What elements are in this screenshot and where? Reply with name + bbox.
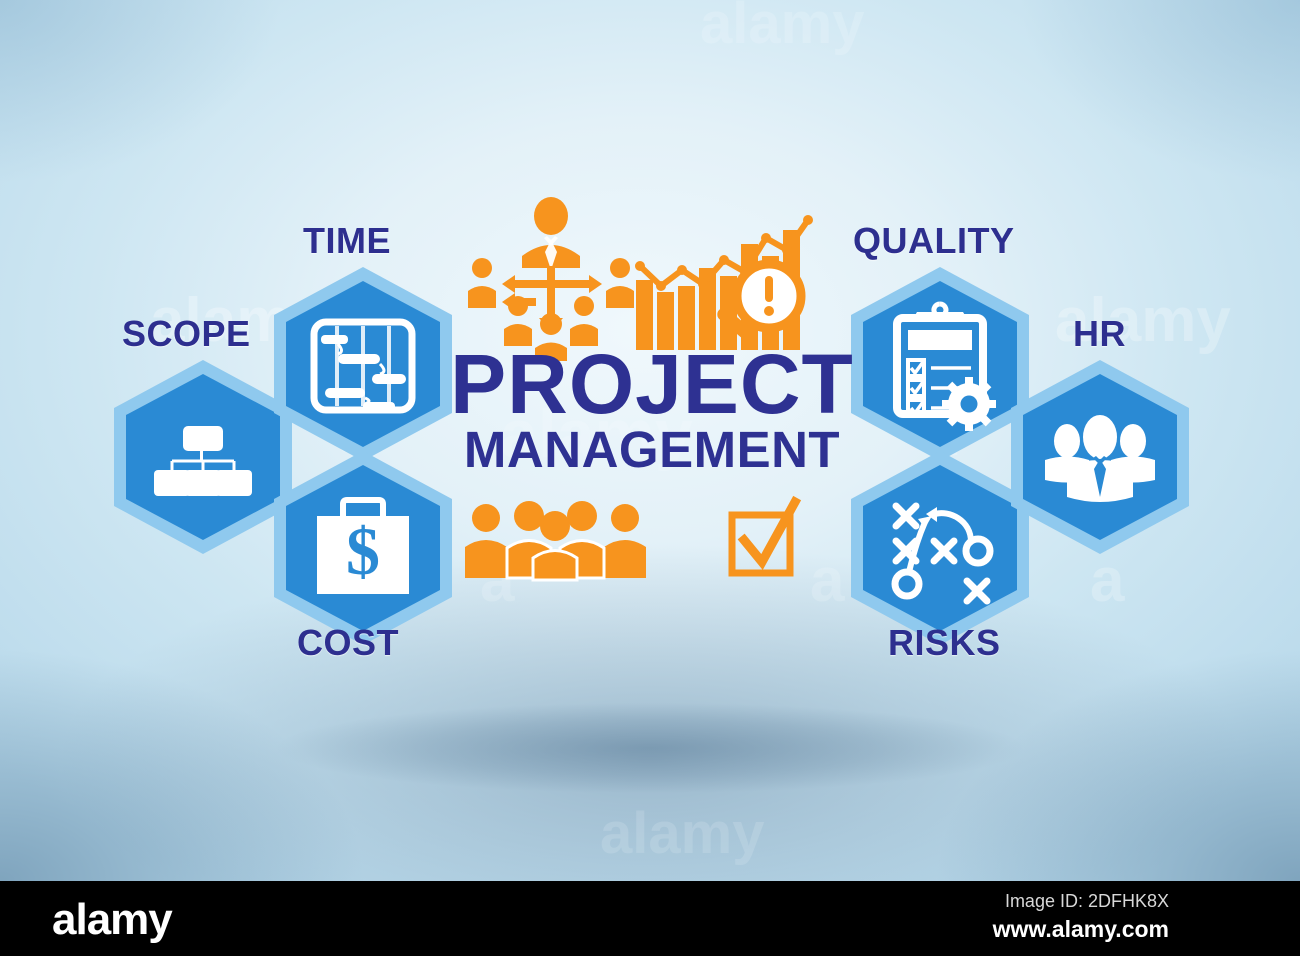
checkbox-tick-icon xyxy=(727,500,799,578)
alamy-url-text: www.alamy.com xyxy=(993,916,1169,943)
hexagon-label-risks: RISKS xyxy=(888,622,1001,664)
gear-icon xyxy=(942,377,996,431)
bar-chart-magnifier-icon xyxy=(632,214,822,356)
hexagon-label-scope: SCOPE xyxy=(122,313,251,355)
watermark-alamy-top: alamy xyxy=(700,0,864,57)
hexagon-hr[interactable] xyxy=(1005,357,1195,557)
screenshot-root: alamy alamy alamy a a a a alamy a a alam… xyxy=(0,0,1300,956)
crowd-people-icon xyxy=(463,502,648,580)
alamy-logo: alamy xyxy=(52,895,172,945)
watermark-alamy-bottom: alamy xyxy=(600,800,764,867)
image-id-text: Image ID: 2DFHK8X xyxy=(1005,891,1169,912)
illustration-canvas: alamy alamy alamy a a a a alamy a a alam… xyxy=(0,0,1300,881)
title-secondary: MANAGEMENT xyxy=(450,427,854,474)
title-primary: PROJECT xyxy=(450,346,854,423)
hexagon-label-cost: COST xyxy=(297,622,399,664)
hexagon-time[interactable] xyxy=(268,264,458,464)
footer-bar: alamy Image ID: 2DFHK8X www.alamy.com xyxy=(0,881,1300,956)
floor-shadow xyxy=(170,688,1130,808)
hexagon-label-quality: QUALITY xyxy=(853,220,1015,262)
hexagon-cost[interactable]: $ xyxy=(268,448,458,648)
watermark-letter-center-right: a xyxy=(810,545,844,616)
hexagon-label-hr: HR xyxy=(1073,313,1126,355)
hexagon-label-time: TIME xyxy=(303,220,391,262)
svg-text:$: $ xyxy=(346,513,380,589)
page-title: PROJECT MANAGEMENT xyxy=(450,346,854,474)
